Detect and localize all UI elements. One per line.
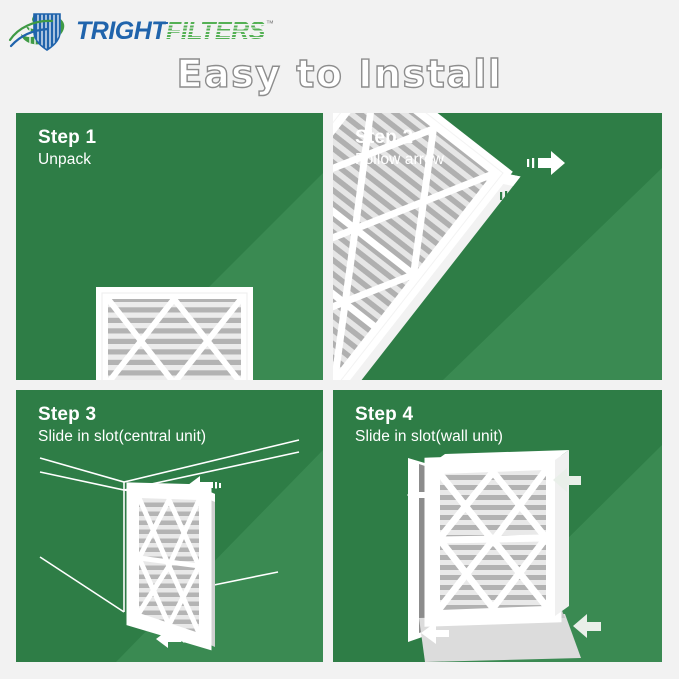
- step-title: Step 4: [355, 404, 413, 426]
- step-subtitle: Slide in slot(wall unit): [355, 428, 503, 446]
- brand-logo[interactable]: TRIGHT FILTERS ™: [8, 10, 273, 52]
- filter-panel: [132, 488, 215, 647]
- step-subtitle: Slide in slot(central unit): [38, 428, 206, 446]
- step-subtitle: Unpack: [38, 151, 91, 169]
- page-header: TRIGHT FILTERS ™ Easy to Install: [0, 0, 679, 108]
- brand-primary-text: TRIGHT: [76, 19, 166, 44]
- white-arrow-left-outer-bottom-icon: [573, 614, 601, 638]
- step-panel-1: Step 1 Unpack: [16, 113, 323, 380]
- step-subtitle: Follow arrow: [355, 151, 444, 169]
- step-panel-4: Step 4 Slide in slot(wall unit): [333, 390, 662, 662]
- page-title: Easy to Install: [0, 52, 679, 96]
- leaf-shield-logo-icon: [8, 10, 70, 52]
- white-arrow-right-icon: [527, 151, 565, 175]
- step-title: Step 3: [38, 404, 96, 426]
- trademark-symbol: ™: [266, 20, 274, 28]
- filter-panel: [431, 450, 569, 620]
- step-panel-2: Step 2 Follow arrow: [333, 113, 662, 380]
- step-title: Step 1: [38, 127, 96, 149]
- brand-secondary-text: FILTERS: [166, 19, 265, 44]
- step-title: Step 2: [355, 127, 413, 149]
- step-panel-3: Step 3 Slide in slot(central unit): [16, 390, 323, 662]
- brand-wordmark: TRIGHT FILTERS ™: [76, 19, 273, 44]
